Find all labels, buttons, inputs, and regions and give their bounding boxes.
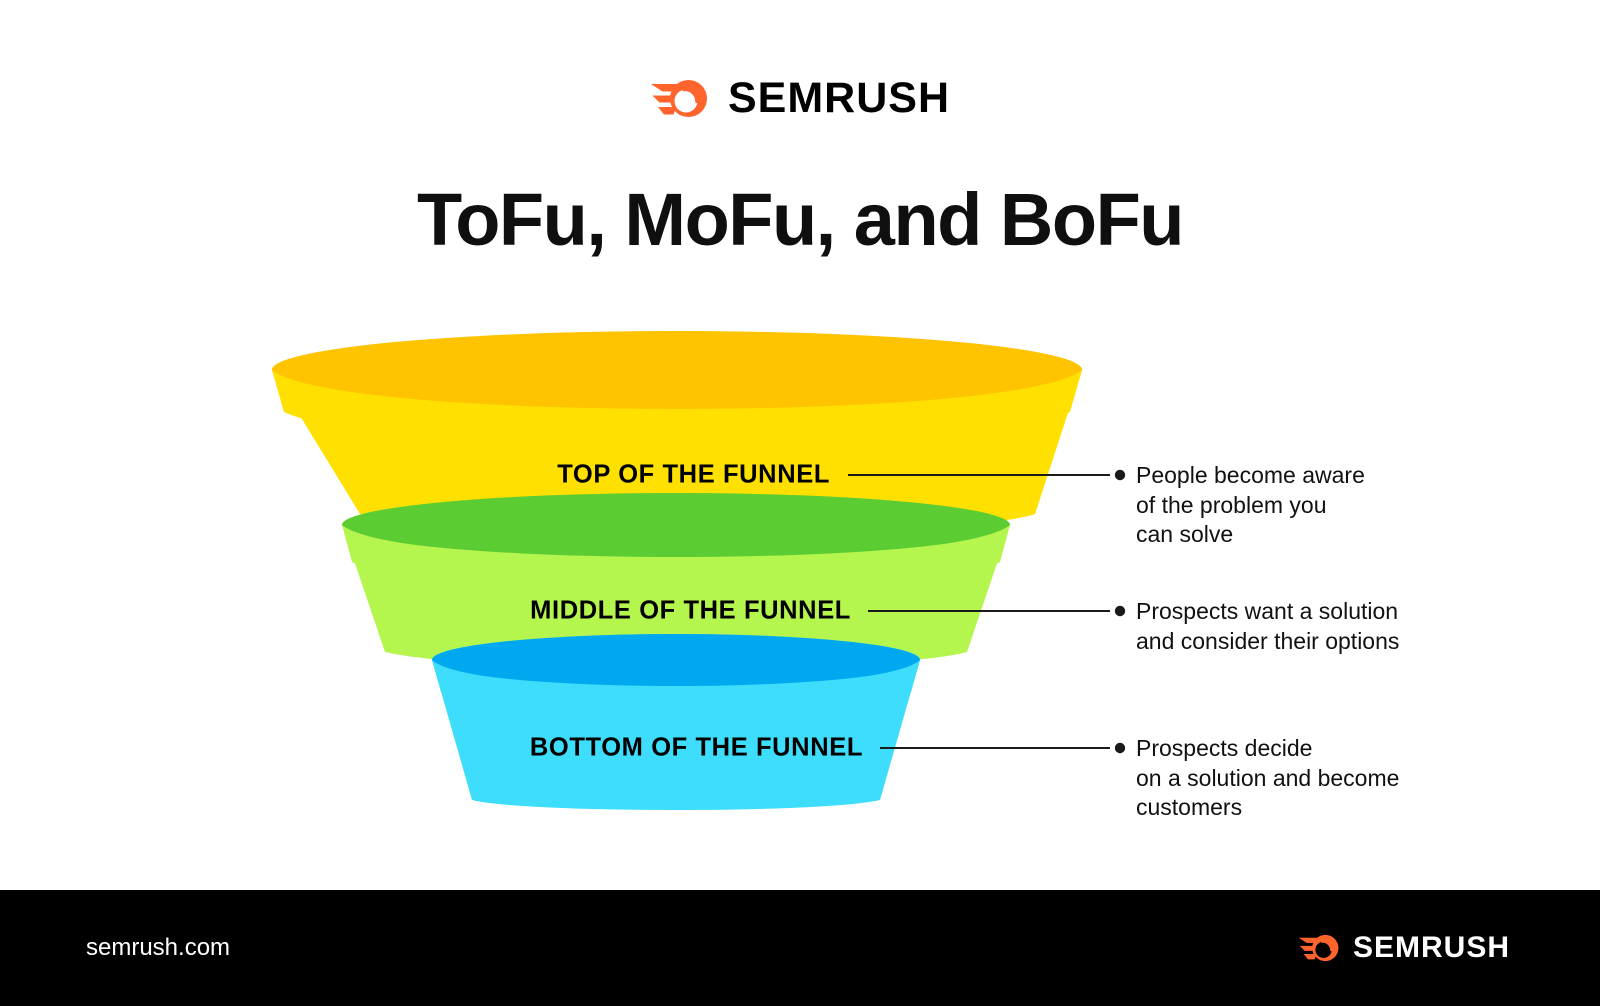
leader-dot-bofu	[1115, 743, 1125, 753]
funnel-label-tofu: TOP OF THE FUNNEL	[557, 461, 830, 490]
funnel-label-mofu: MIDDLE OF THE FUNNEL	[530, 597, 851, 626]
footer-bar: semrush.com SEMRUSH	[0, 890, 1600, 1006]
leader-dot-mofu	[1115, 606, 1125, 616]
funnel-label-bofu: BOTTOM OF THE FUNNEL	[530, 734, 863, 763]
page-title: ToFu, MoFu, and BoFu	[0, 183, 1600, 257]
semrush-wordmark-header: SEMRUSH	[728, 77, 950, 120]
funnel-description-tofu: People become aware of the problem you c…	[1136, 461, 1365, 550]
funnel-description-bofu: Prospects decide on a solution and becom…	[1136, 734, 1399, 823]
semrush-comet-icon	[1298, 932, 1342, 964]
semrush-wordmark-footer: SEMRUSH	[1353, 933, 1510, 963]
funnel-description-mofu: Prospects want a solution and consider t…	[1136, 597, 1399, 656]
infographic-canvas: SEMRUSH ToFu, MoFu, and BoFu	[0, 0, 1600, 1006]
leader-dot-tofu	[1115, 470, 1125, 480]
footer-website-url[interactable]: semrush.com	[86, 934, 230, 962]
semrush-comet-icon	[650, 76, 712, 121]
funnel-diagram: TOP OF THE FUNNEL MIDDLE OF THE FUNNEL B…	[0, 330, 1600, 850]
semrush-logo-header: SEMRUSH	[650, 76, 950, 121]
semrush-logo-footer: SEMRUSH	[1298, 932, 1510, 964]
funnel-stage-bofu-shape	[432, 634, 920, 810]
